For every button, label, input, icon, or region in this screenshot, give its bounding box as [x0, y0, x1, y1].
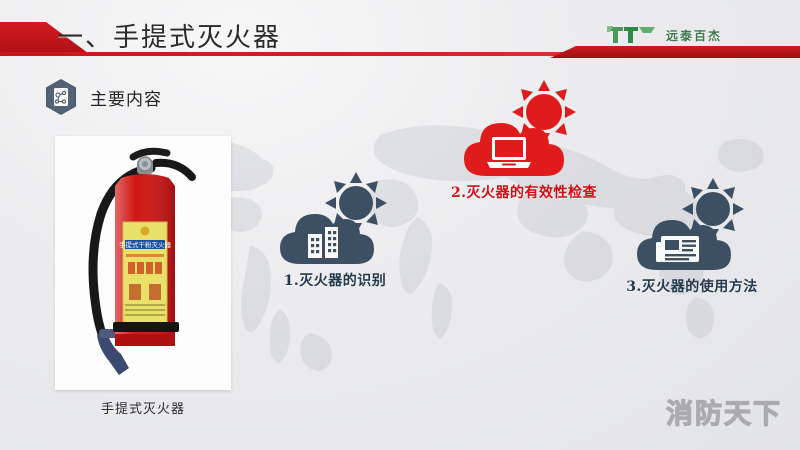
page-title: 一、手提式灭火器	[57, 17, 281, 54]
svg-text:手提式干粉灭火器: 手提式干粉灭火器	[119, 240, 172, 249]
section-label: 主要内容	[90, 85, 162, 110]
document-flow-hexagon-icon	[44, 78, 78, 116]
cloud-sun-buildings-icon	[270, 172, 400, 268]
brand-name: 远泰百杰	[666, 27, 722, 44]
fire-extinguisher-photo: 手提式干粉灭火器	[55, 136, 231, 390]
cloud-sun-newspaper-icon	[627, 178, 757, 274]
header-red-right-bar	[550, 46, 800, 58]
photo-caption: 手提式灭火器	[55, 398, 231, 417]
topic-node-3[interactable]: 3.灭火器的使用方法	[588, 178, 796, 296]
cloud-sun-laptop-icon	[456, 80, 592, 180]
slide-canvas: 一、手提式灭火器 远泰百杰 主要内容	[0, 0, 800, 450]
yt-monogram-icon	[607, 24, 661, 46]
brand-logo: 远泰百杰	[607, 24, 722, 46]
section-heading: 主要内容	[44, 78, 162, 116]
topic-node-1-label: 1.灭火器的识别	[240, 270, 430, 290]
watermark-text: 消防天下	[666, 392, 782, 431]
topic-node-1[interactable]: 1.灭火器的识别	[240, 172, 430, 290]
topic-node-3-label: 3.灭火器的使用方法	[588, 276, 796, 296]
